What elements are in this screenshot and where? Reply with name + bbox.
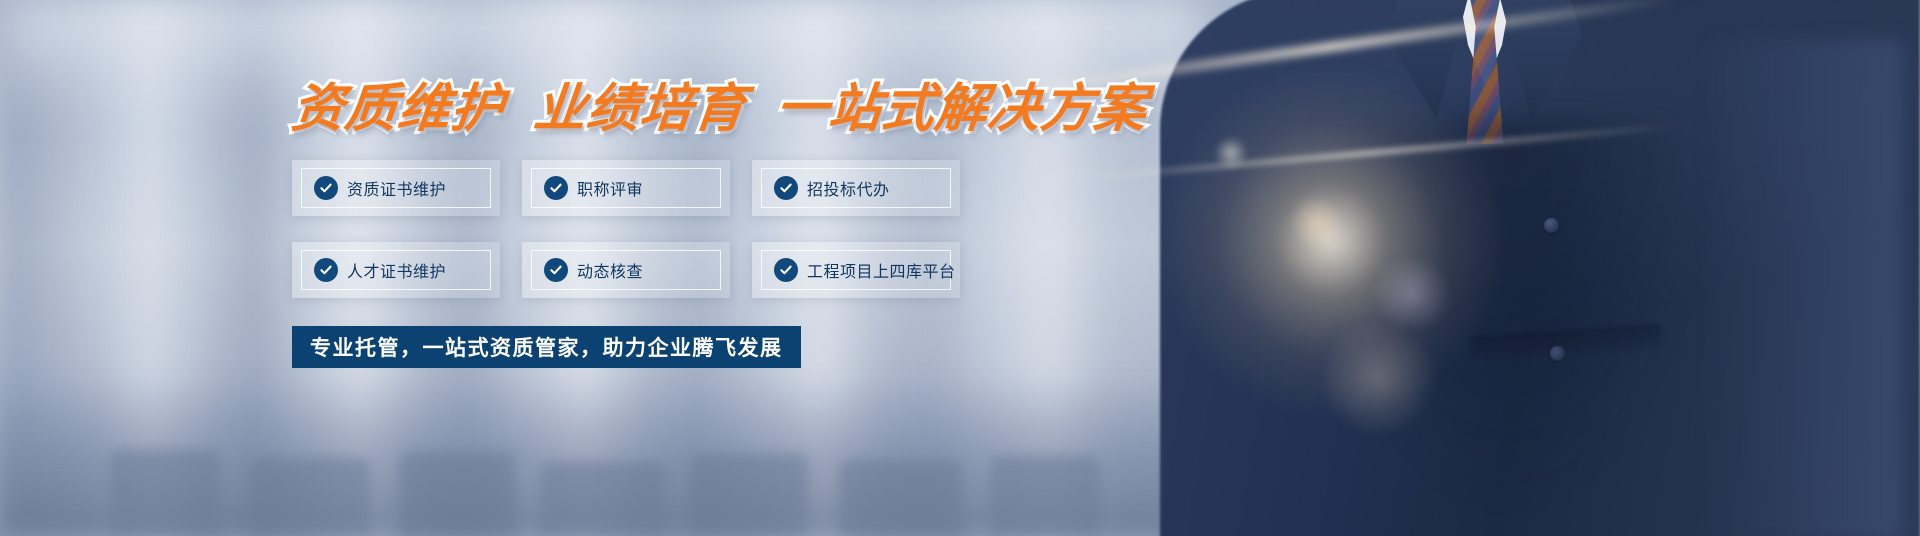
headline-part-1: 资质维护 xyxy=(289,80,507,138)
headline-part-2: 业绩培育 xyxy=(531,80,749,138)
feature-card-5[interactable]: 动态核查 xyxy=(522,242,730,298)
feature-card-2-label: 职称评审 xyxy=(577,176,643,200)
feature-grid: 资质证书维护 职称评审 招投标代办 xyxy=(292,160,960,298)
feature-card-1[interactable]: 资质证书维护 xyxy=(292,160,500,216)
feature-card-5-label: 动态核查 xyxy=(577,258,643,282)
businessman-photo xyxy=(1100,0,1920,536)
check-circle-icon xyxy=(314,258,338,282)
suit-arm-edge xyxy=(1702,40,1902,536)
feature-card-5-inner: 动态核查 xyxy=(531,250,721,290)
feature-card-6-inner: 工程项目上四库平台 xyxy=(761,250,951,290)
feature-card-2-inner: 职称评审 xyxy=(531,168,721,208)
tagline-bar: 专业托管，一站式资质管家，助力企业腾飞发展 xyxy=(292,326,801,368)
check-circle-icon xyxy=(314,176,338,200)
feature-card-2[interactable]: 职称评审 xyxy=(522,160,730,216)
feature-card-1-label: 资质证书维护 xyxy=(347,176,446,200)
feature-card-3-label: 招投标代办 xyxy=(807,176,890,200)
headline-part-3: 一站式解决方案 xyxy=(773,80,1150,138)
check-circle-icon xyxy=(774,258,798,282)
feature-card-4-label: 人才证书维护 xyxy=(347,258,446,282)
feature-card-4-inner: 人才证书维护 xyxy=(301,250,491,290)
feature-card-3-inner: 招投标代办 xyxy=(761,168,951,208)
banner-content: 资质维护业绩培育一站式解决方案 资质证书维护 职称评审 xyxy=(0,0,1100,536)
feature-card-6-label: 工程项目上四库平台 xyxy=(807,258,956,282)
check-circle-icon xyxy=(774,176,798,200)
check-circle-icon xyxy=(544,176,568,200)
feature-card-6[interactable]: 工程项目上四库平台 xyxy=(752,242,960,298)
promo-banner: 资质维护业绩培育一站式解决方案 资质证书维护 职称评审 xyxy=(0,0,1920,536)
tagline-text: 专业托管，一站式资质管家，助力企业腾飞发展 xyxy=(310,332,783,362)
feature-card-3[interactable]: 招投标代办 xyxy=(752,160,960,216)
feature-card-4[interactable]: 人才证书维护 xyxy=(292,242,500,298)
headline: 资质维护业绩培育一站式解决方案 xyxy=(289,80,1150,138)
feature-card-1-inner: 资质证书维护 xyxy=(301,168,491,208)
check-circle-icon xyxy=(544,258,568,282)
suit-button-upper xyxy=(1544,218,1559,233)
